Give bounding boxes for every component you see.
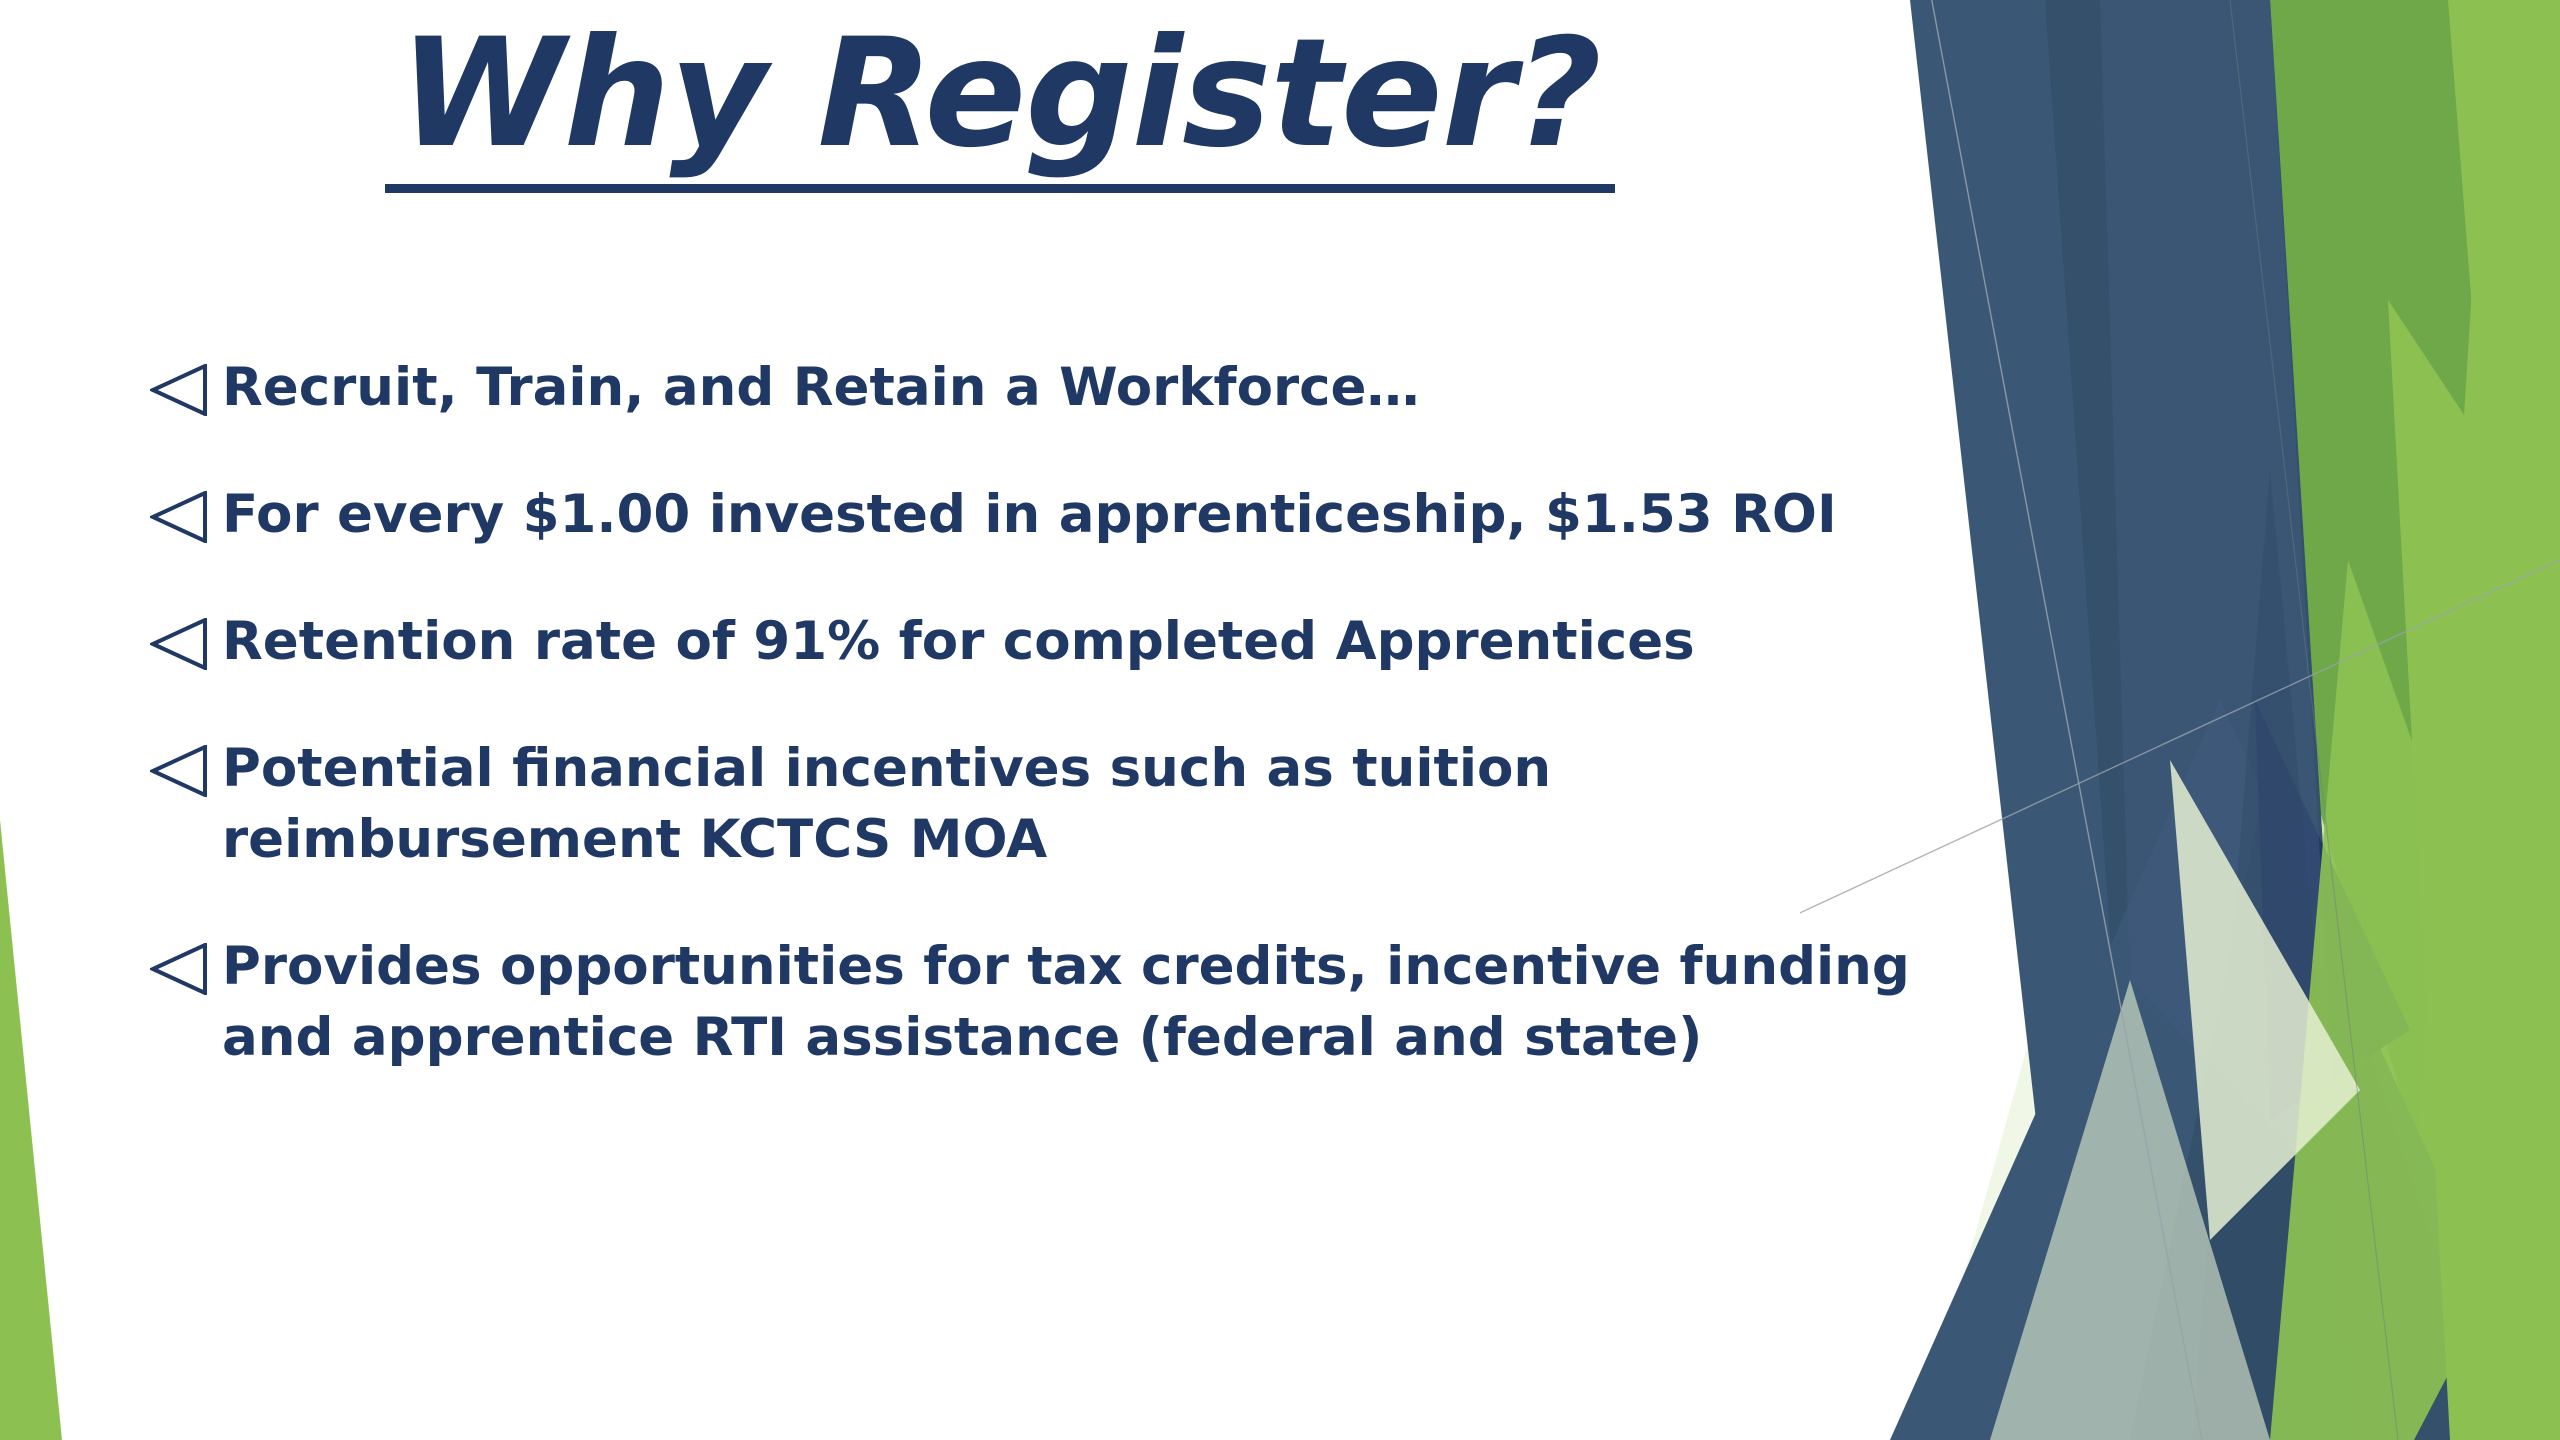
- list-item: Potential financial incentives such as t…: [150, 733, 2110, 875]
- slide-canvas: Why Register? Recruit, Train, and Retain…: [0, 0, 2560, 1440]
- list-item-label: For every $1.00 invested in apprenticesh…: [222, 479, 2022, 550]
- list-item: Recruit, Train, and Retain a Workforce…: [150, 352, 2110, 423]
- list-item-label: Recruit, Train, and Retain a Workforce…: [222, 352, 2022, 423]
- list-item: Provides opportunities for tax credits, …: [150, 931, 2110, 1073]
- left-triangle-outline-icon: [150, 479, 222, 543]
- list-item-label: Retention rate of 91% for completed Appr…: [222, 606, 2022, 677]
- title-block: Why Register?: [0, 10, 2000, 193]
- left-triangle-outline-icon: [150, 733, 222, 797]
- left-triangle-outline-icon: [150, 931, 222, 995]
- page-title: Why Register?: [385, 10, 1615, 193]
- list-item-label: Potential financial incentives such as t…: [222, 733, 2022, 875]
- list-item: Retention rate of 91% for completed Appr…: [150, 606, 2110, 677]
- left-triangle-outline-icon: [150, 606, 222, 670]
- bullet-list: Recruit, Train, and Retain a Workforce… …: [150, 352, 2110, 1073]
- left-triangle-outline-icon: [150, 352, 222, 416]
- list-item-label: Provides opportunities for tax credits, …: [222, 931, 2022, 1073]
- list-item: For every $1.00 invested in apprenticesh…: [150, 479, 2110, 550]
